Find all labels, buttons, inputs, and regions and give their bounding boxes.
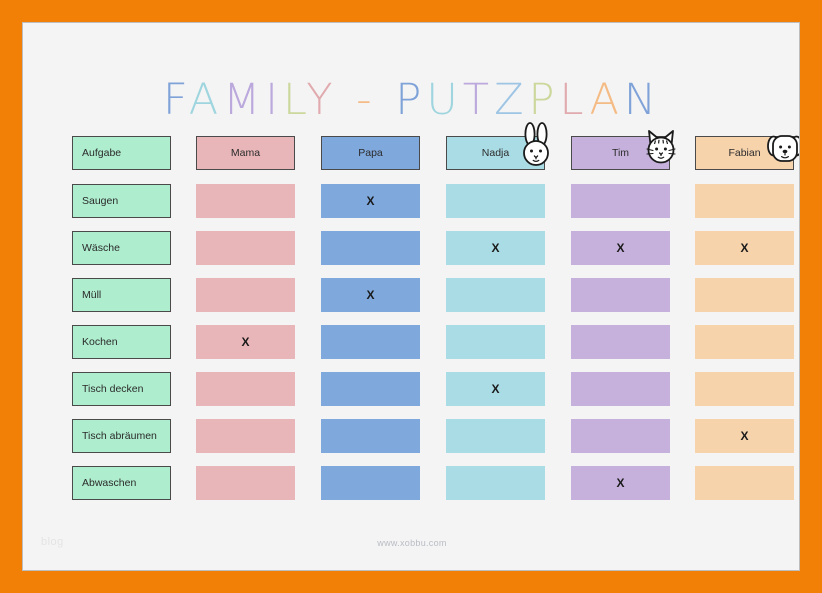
task-label-cell: Müll bbox=[72, 278, 171, 312]
task-label: Wäsche bbox=[82, 242, 120, 254]
assignment-mark: X bbox=[366, 288, 374, 302]
assignment-cell[interactable] bbox=[196, 466, 295, 500]
assignment-cell[interactable] bbox=[446, 466, 545, 500]
dog-icon bbox=[764, 122, 800, 168]
orange-border-frame: FAMILY - PUTZPLAN AufgabeMamaPapaNadjaTi… bbox=[0, 0, 822, 593]
bunny-icon bbox=[515, 122, 557, 168]
assignment-cell[interactable] bbox=[321, 466, 420, 500]
assignment-cell[interactable] bbox=[695, 372, 794, 406]
assignment-cell[interactable] bbox=[571, 419, 670, 453]
assignment-mark: X bbox=[366, 194, 374, 208]
assignment-cell[interactable]: X bbox=[571, 466, 670, 500]
assignment-cell[interactable] bbox=[695, 278, 794, 312]
footer-website-url: www.xobbu.com bbox=[23, 538, 800, 548]
assignment-cell[interactable] bbox=[571, 278, 670, 312]
column-header-mama: Mama bbox=[196, 136, 295, 170]
chore-chart-page: FAMILY - PUTZPLAN AufgabeMamaPapaNadjaTi… bbox=[22, 22, 800, 571]
task-label-cell: Tisch decken bbox=[72, 372, 171, 406]
chore-table: AufgabeMamaPapaNadjaTimFabianSaugenXWäsc… bbox=[23, 23, 800, 571]
task-label: Kochen bbox=[82, 336, 118, 348]
assignment-cell[interactable] bbox=[196, 419, 295, 453]
column-header-label: Mama bbox=[231, 147, 260, 159]
assignment-cell[interactable]: X bbox=[321, 184, 420, 218]
assignment-cell[interactable] bbox=[571, 325, 670, 359]
task-label: Abwaschen bbox=[82, 477, 136, 489]
assignment-cell[interactable]: X bbox=[321, 278, 420, 312]
assignment-cell[interactable] bbox=[571, 372, 670, 406]
task-label-cell: Tisch abräumen bbox=[72, 419, 171, 453]
assignment-cell[interactable] bbox=[571, 184, 670, 218]
task-label-cell: Kochen bbox=[72, 325, 171, 359]
assignment-cell[interactable] bbox=[321, 231, 420, 265]
assignment-cell[interactable] bbox=[446, 184, 545, 218]
column-header-task: Aufgabe bbox=[72, 136, 171, 170]
assignment-cell[interactable]: X bbox=[695, 419, 794, 453]
task-label-cell: Wäsche bbox=[72, 231, 171, 265]
assignment-cell[interactable] bbox=[196, 184, 295, 218]
assignment-mark: X bbox=[616, 476, 624, 490]
assignment-cell[interactable]: X bbox=[446, 231, 545, 265]
assignment-cell[interactable] bbox=[446, 325, 545, 359]
column-header-label: Tim bbox=[612, 147, 629, 159]
assignment-cell[interactable] bbox=[695, 325, 794, 359]
assignment-cell[interactable]: X bbox=[695, 231, 794, 265]
assignment-cell[interactable] bbox=[196, 231, 295, 265]
assignment-mark: X bbox=[740, 429, 748, 443]
assignment-mark: X bbox=[491, 241, 499, 255]
assignment-mark: X bbox=[491, 382, 499, 396]
column-header-label: Nadja bbox=[482, 147, 509, 159]
assignment-mark: X bbox=[616, 241, 624, 255]
column-header-label: Aufgabe bbox=[82, 147, 121, 159]
assignment-cell[interactable] bbox=[695, 184, 794, 218]
task-label: Müll bbox=[82, 289, 101, 301]
column-header-papa: Papa bbox=[321, 136, 420, 170]
task-label: Tisch decken bbox=[82, 383, 143, 395]
assignment-mark: X bbox=[241, 335, 249, 349]
column-header-tim: Tim bbox=[571, 136, 670, 170]
task-label-cell: Saugen bbox=[72, 184, 171, 218]
assignment-cell[interactable] bbox=[446, 419, 545, 453]
assignment-cell[interactable] bbox=[695, 466, 794, 500]
assignment-cell[interactable] bbox=[321, 372, 420, 406]
task-label: Tisch abräumen bbox=[82, 430, 157, 442]
assignment-cell[interactable]: X bbox=[196, 325, 295, 359]
column-header-label: Papa bbox=[358, 147, 383, 159]
column-header-fabian: Fabian bbox=[695, 136, 794, 170]
assignment-cell[interactable] bbox=[321, 419, 420, 453]
assignment-cell[interactable] bbox=[446, 278, 545, 312]
task-label-cell: Abwaschen bbox=[72, 466, 171, 500]
task-label: Saugen bbox=[82, 195, 118, 207]
assignment-cell[interactable]: X bbox=[446, 372, 545, 406]
assignment-cell[interactable] bbox=[196, 372, 295, 406]
assignment-cell[interactable] bbox=[196, 278, 295, 312]
assignment-mark: X bbox=[740, 241, 748, 255]
column-header-nadja: Nadja bbox=[446, 136, 545, 170]
assignment-cell[interactable]: X bbox=[571, 231, 670, 265]
column-header-label: Fabian bbox=[728, 147, 760, 159]
assignment-cell[interactable] bbox=[321, 325, 420, 359]
cat-icon bbox=[640, 122, 682, 168]
